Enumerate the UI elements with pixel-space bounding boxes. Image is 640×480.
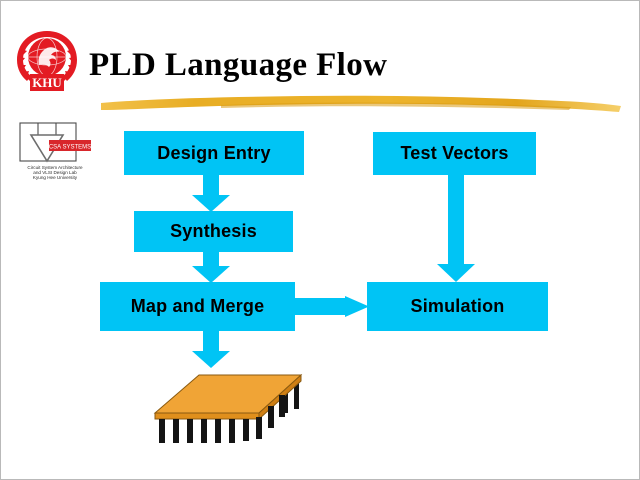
khu-emblem-logo: KHU [13,27,81,95]
chip-front-edge [155,413,259,419]
arrow-synthesis-to-map-merge [192,252,230,283]
slide-canvas: KHU PLD Language Flow [0,0,640,480]
csa-systems-logo: CSA SYSTEMS Circuit System Architecture … [15,119,95,183]
flow-box-synthesis[interactable]: Synthesis [134,211,293,252]
flow-box-synthesis-label: Synthesis [170,221,257,242]
flow-box-map-and-merge-label: Map and Merge [131,296,265,317]
arrow-map-merge-to-simulation [295,296,369,317]
csa-caption-line-3: Kyung Hee University [33,175,78,180]
flow-box-simulation-label: Simulation [410,296,504,317]
flow-box-map-and-merge[interactable]: Map and Merge [100,282,295,331]
title-underline-brushstroke [101,89,621,115]
khu-logo-text: KHU [32,75,62,90]
arrow-design-entry-to-synthesis [192,175,230,212]
page-title: PLD Language Flow [89,45,387,85]
flow-box-simulation[interactable]: Simulation [367,282,548,331]
flow-box-design-entry-label: Design Entry [157,143,270,164]
flow-box-test-vectors[interactable]: Test Vectors [373,132,536,175]
flow-box-design-entry[interactable]: Design Entry [124,131,304,175]
flow-box-test-vectors-label: Test Vectors [400,143,508,164]
csa-badge-text: CSA SYSTEMS [49,145,91,151]
arrow-test-vectors-to-simulation [437,175,475,282]
pld-chip-graphic [113,361,313,449]
